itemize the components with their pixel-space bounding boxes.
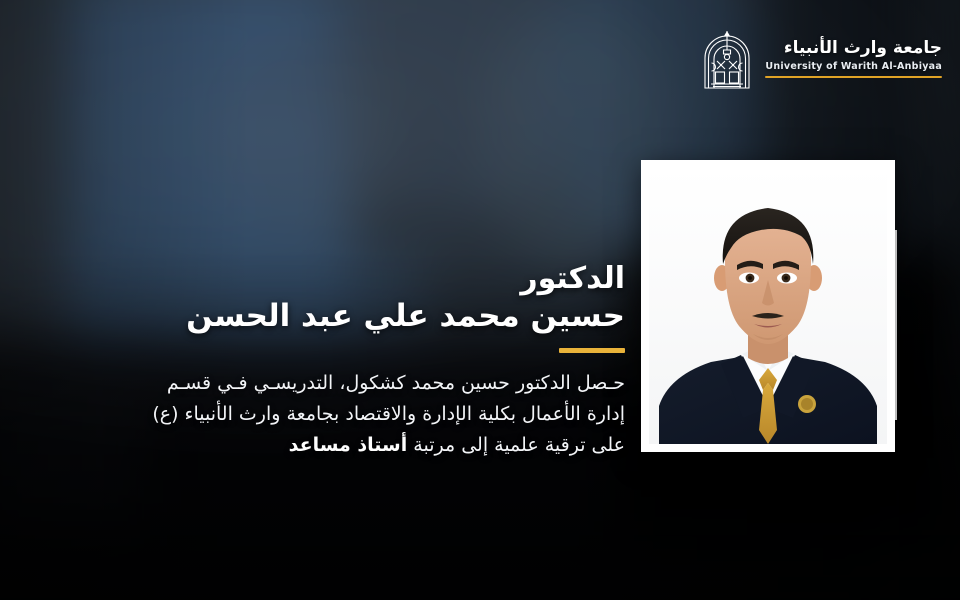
brand-name-arabic: جامعة وارث الأنبياء bbox=[765, 38, 942, 59]
body-line-1: حـصل الدكتور حسين محمد كشكول، التدريسـي … bbox=[100, 368, 625, 399]
body-line-2: إدارة الأعمال بكلية الإدارة والاقتصاد بج… bbox=[100, 399, 625, 430]
headline-full-name: حسين محمد علي عبد الحسن bbox=[155, 298, 625, 335]
university-shrine-emblem-icon bbox=[701, 28, 753, 90]
brand-gold-underline bbox=[765, 76, 942, 78]
university-brand-lockup: جامعة وارث الأنبياء University of Warith… bbox=[701, 28, 942, 90]
body-line-3-prefix: على ترقية علمية إلى مرتبة bbox=[407, 434, 625, 456]
portrait-illustration bbox=[649, 168, 887, 444]
headline-block: الدكتور حسين محمد علي عبد الحسن bbox=[155, 262, 625, 353]
portrait-photo bbox=[649, 168, 887, 444]
brand-wordmark: جامعة وارث الأنبياء University of Warith… bbox=[765, 38, 942, 81]
academic-rank-label: أستاذ مساعد bbox=[289, 434, 408, 456]
portrait-frame bbox=[641, 160, 895, 452]
gold-divider-rule bbox=[559, 348, 625, 353]
brand-name-english: University of Warith Al-Anbiyaa bbox=[765, 61, 942, 73]
promotion-announcement-poster: جامعة وارث الأنبياء University of Warith… bbox=[0, 0, 960, 600]
headline-kicker: الدكتور bbox=[155, 262, 625, 296]
announcement-body: حـصل الدكتور حسين محمد كشكول، التدريسـي … bbox=[100, 368, 625, 460]
body-line-3: على ترقية علمية إلى مرتبة أستاذ مساعد bbox=[100, 430, 625, 461]
